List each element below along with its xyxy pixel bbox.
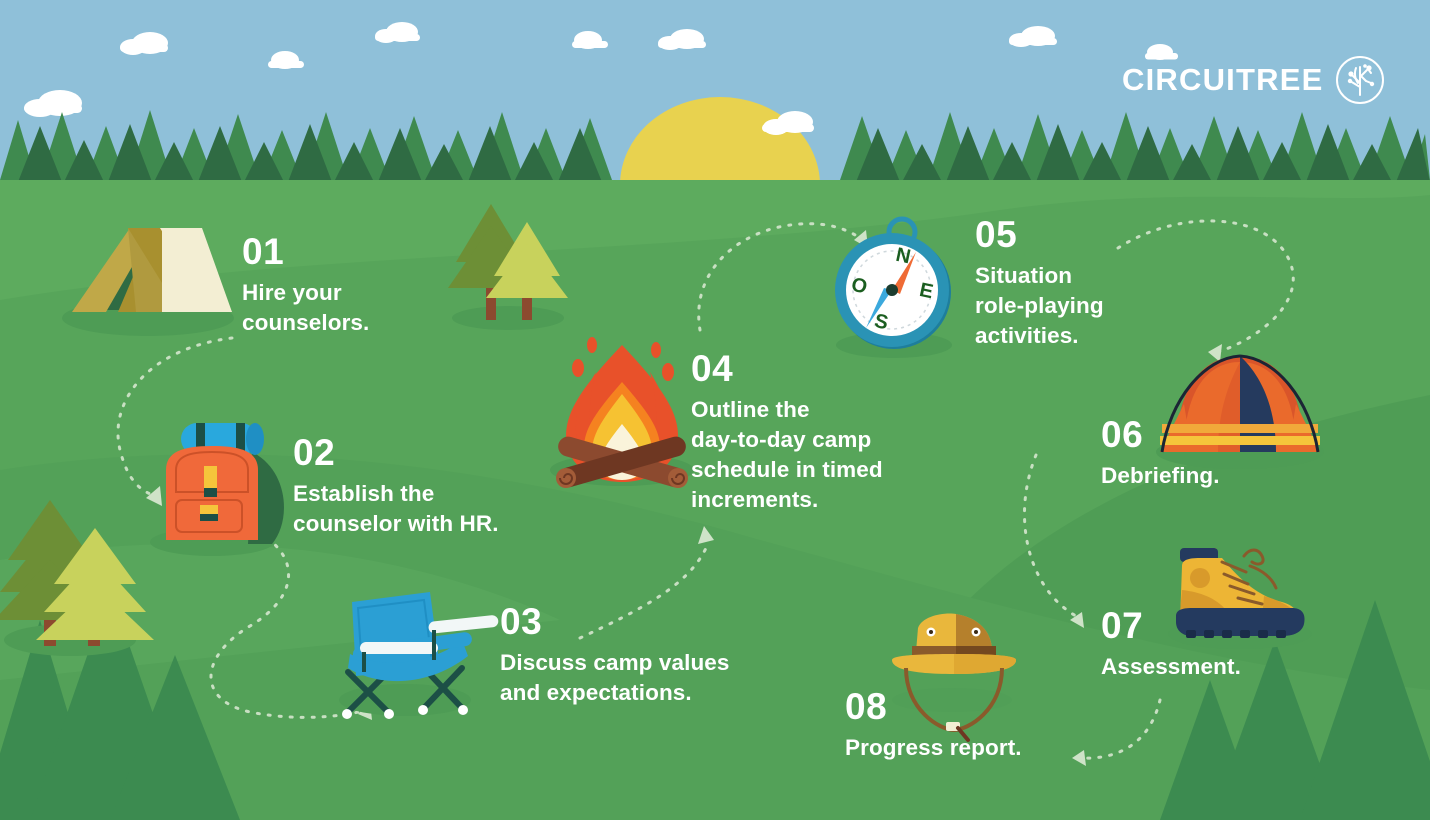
compass-icon: N E S O: [835, 219, 952, 358]
camping-chair-icon: [339, 592, 499, 719]
step-03-number: 03: [500, 603, 730, 640]
step-04-text: Outline the day-to-day camp schedule in …: [691, 395, 883, 515]
step-02: 02 Establish the counselor with HR.: [293, 434, 499, 539]
step-04-number: 04: [691, 350, 883, 387]
step-06: 06 Debriefing.: [1101, 416, 1220, 491]
pine-trees-left-icon: [0, 500, 154, 656]
step-01-number: 01: [242, 233, 369, 270]
step-08-text: Progress report.: [845, 733, 1022, 763]
step-03: 03 Discuss camp values and expectations.: [500, 603, 730, 708]
step-08: 08 Progress report.: [845, 688, 1022, 763]
pine-trees-center-icon: [448, 204, 568, 330]
step-06-text: Debriefing.: [1101, 461, 1220, 491]
step-05-number: 05: [975, 216, 1104, 253]
circuit-tree-badge-icon: [1335, 55, 1385, 105]
step-01-text: Hire your counselors.: [242, 278, 369, 338]
step-02-number: 02: [293, 434, 499, 471]
step-07: 07 Assessment.: [1101, 607, 1241, 682]
campfire-icon: [550, 337, 694, 490]
a-frame-tent-icon: [62, 228, 234, 336]
step-07-number: 07: [1101, 607, 1241, 644]
step-02-text: Establish the counselor with HR.: [293, 479, 499, 539]
brand-logo: CIRCUITREE: [1122, 55, 1385, 105]
step-05: 05 Situation role-playing activities.: [975, 216, 1104, 351]
step-04: 04 Outline the day-to-day camp schedule …: [691, 350, 883, 515]
backpack-icon: [150, 423, 284, 556]
step-05-text: Situation role-playing activities.: [975, 261, 1104, 351]
step-03-text: Discuss camp values and expectations.: [500, 648, 730, 708]
brand-wordmark: CIRCUITREE: [1122, 62, 1323, 98]
step-07-text: Assessment.: [1101, 652, 1241, 682]
step-06-number: 06: [1101, 416, 1220, 453]
step-01: 01 Hire your counselors.: [242, 233, 369, 338]
infographic-canvas: N E S O: [0, 0, 1430, 820]
step-08-number: 08: [845, 688, 1022, 725]
